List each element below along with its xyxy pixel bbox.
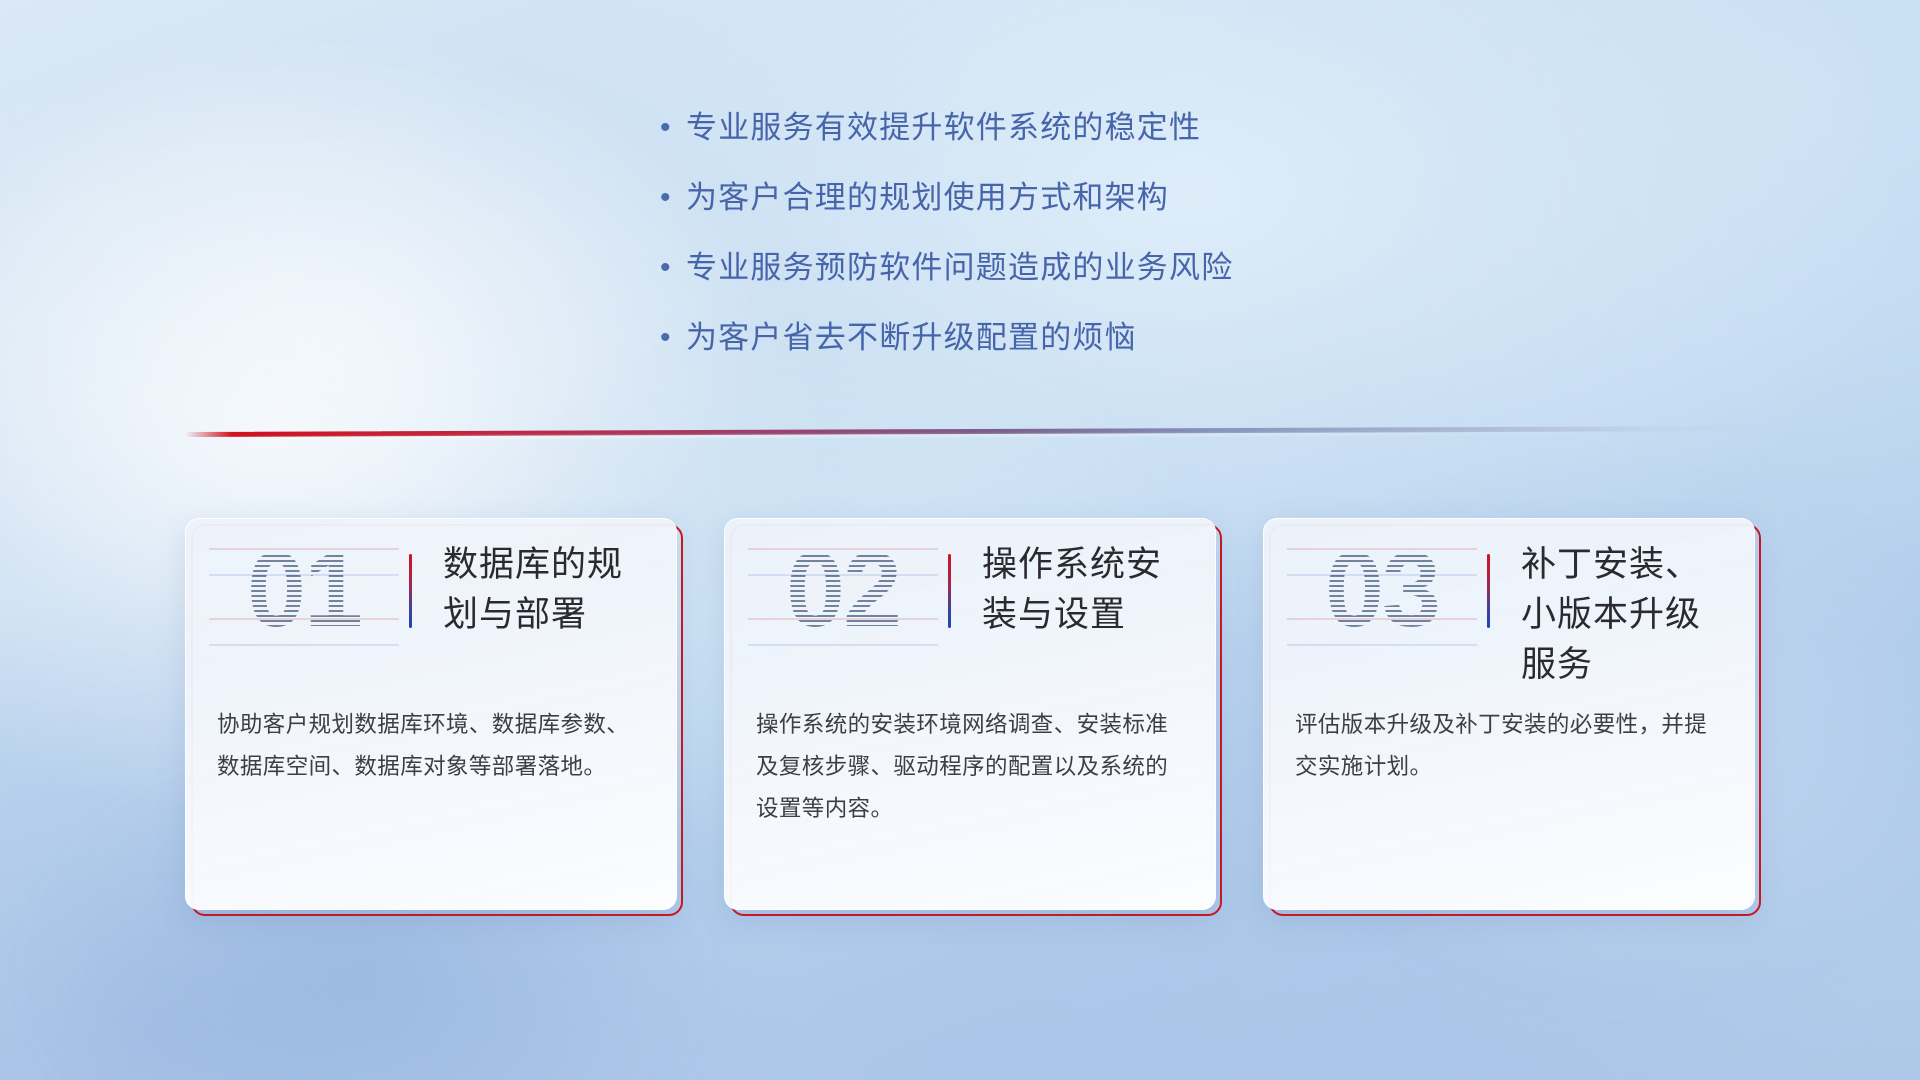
list-item: • 专业服务有效提升软件系统的稳定性 [660,105,1560,151]
bullet-dot-icon: • [660,245,686,291]
card-number-01: 01 [209,530,399,650]
card-header: 01 数据库的规划与部署 [185,518,677,678]
bullet-dot-icon: • [660,315,686,361]
card-header: 02 操作系统安装与设置 [724,518,1216,678]
benefits-bullet-list: • 专业服务有效提升软件系统的稳定性 • 为客户合理的规划使用方式和架构 • 专… [660,105,1560,385]
card-description-01: 协助客户规划数据库环境、数据库参数、数据库空间、数据库对象等部署落地。 [217,704,645,788]
card-description-03: 评估版本升级及补丁安装的必要性，并提交实施计划。 [1295,704,1723,788]
card-title-02: 操作系统安装与设置 [982,540,1192,640]
card-header: 03 补丁安装、小版本升级服务 [1263,518,1755,678]
bullet-dot-icon: • [660,175,686,221]
card-surface: 01 数据库的规划与部署 协助客户规划数据库环境、数据库参数、数据库空间、数据库… [185,518,677,910]
service-card-group: 01 数据库的规划与部署 协助客户规划数据库环境、数据库参数、数据库空间、数据库… [185,518,1755,918]
card-number-02: 02 [748,530,938,650]
list-item: • 为客户合理的规划使用方式和架构 [660,175,1560,221]
list-item: • 为客户省去不断升级配置的烦恼 [660,315,1560,361]
card-surface: 02 操作系统安装与设置 操作系统的安装环境网络调查、安装标准及复核步骤、驱动程… [724,518,1216,910]
bullet-text-1: 专业服务有效提升软件系统的稳定性 [686,105,1201,151]
service-card-03[interactable]: 03 补丁安装、小版本升级服务 评估版本升级及补丁安装的必要性，并提交实施计划。 [1263,518,1755,910]
card-description-02: 操作系统的安装环境网络调查、安装标准及复核步骤、驱动程序的配置以及系统的设置等内… [756,704,1184,830]
bullet-text-4: 为客户省去不断升级配置的烦恼 [686,315,1137,361]
bullet-dot-icon: • [660,105,686,151]
section-divider [185,425,1755,441]
card-title-rule [1487,554,1490,628]
list-item: • 专业服务预防软件问题造成的业务风险 [660,245,1560,291]
card-number-03: 03 [1287,530,1477,650]
service-card-01[interactable]: 01 数据库的规划与部署 协助客户规划数据库环境、数据库参数、数据库空间、数据库… [185,518,677,910]
card-title-rule [409,554,412,628]
service-card-02[interactable]: 02 操作系统安装与设置 操作系统的安装环境网络调查、安装标准及复核步骤、驱动程… [724,518,1216,910]
card-surface: 03 补丁安装、小版本升级服务 评估版本升级及补丁安装的必要性，并提交实施计划。 [1263,518,1755,910]
card-title-01: 数据库的规划与部署 [443,540,653,640]
card-title-03: 补丁安装、小版本升级服务 [1521,540,1731,690]
bullet-text-3: 专业服务预防软件问题造成的业务风险 [686,245,1233,291]
card-title-rule [948,554,951,628]
bullet-text-2: 为客户合理的规划使用方式和架构 [686,175,1169,221]
